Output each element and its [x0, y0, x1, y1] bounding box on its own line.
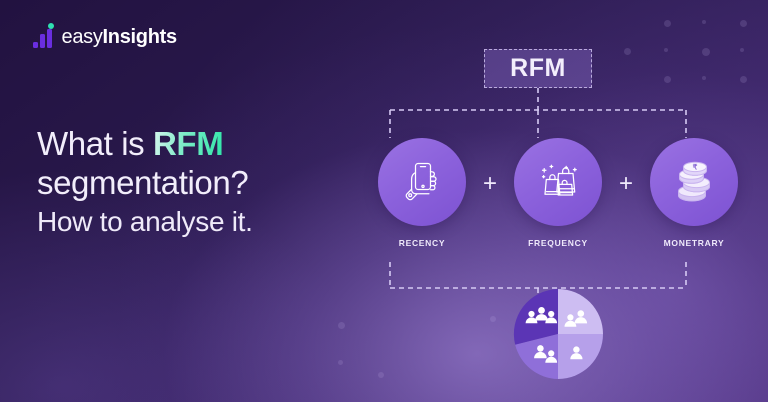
page-title: What is RFM segmentation? How to analyse…	[37, 124, 347, 240]
segmentation-pie-chart[interactable]	[512, 288, 604, 380]
recency-label: RECENCY	[399, 238, 445, 248]
headline-line-1: What is RFM	[37, 124, 347, 163]
monetary-bubble: ₹	[650, 138, 738, 226]
rfm-result	[348, 288, 768, 380]
rfm-node-frequency[interactable]: FREQUENCY	[503, 138, 613, 248]
rfm-factor-row: RECENCY +	[348, 138, 768, 248]
rfm-root-node[interactable]: RFM	[484, 49, 592, 88]
brand-logo[interactable]: easyInsights	[33, 26, 177, 48]
operator-plus-2: +	[613, 172, 639, 196]
pie-chart-segments-icon	[512, 288, 604, 380]
rfm-root-label: RFM	[510, 56, 566, 81]
brand-name: easyInsights	[62, 27, 177, 47]
poster-canvas: easyInsights What is RFM segmentation? H…	[0, 0, 768, 402]
svg-text:₹: ₹	[693, 163, 698, 172]
rfm-diagram: RFM	[348, 0, 768, 402]
headline-accent-rfm: RFM	[153, 125, 223, 162]
headline-line-3: How to analyse it.	[37, 204, 347, 240]
brand-name-light: easy	[62, 26, 103, 48]
brand-name-bold: Insights	[103, 26, 177, 48]
rfm-node-recency[interactable]: RECENCY	[367, 138, 477, 248]
frequency-bubble	[514, 138, 602, 226]
hand-holding-phone-icon	[399, 159, 445, 205]
coin-stack-rupee-icon: ₹	[670, 158, 718, 206]
bar-chart-icon	[33, 26, 54, 48]
rfm-node-monetary[interactable]: ₹ MONETRARY	[639, 138, 749, 248]
operator-plus-1: +	[477, 172, 503, 196]
monetary-label: MONETRARY	[664, 238, 725, 248]
headline-line-2: segmentation?	[37, 163, 347, 202]
frequency-label: FREQUENCY	[528, 238, 588, 248]
headline-prefix: What is	[37, 125, 153, 162]
shopping-bags-icon	[534, 159, 582, 205]
recency-bubble	[378, 138, 466, 226]
